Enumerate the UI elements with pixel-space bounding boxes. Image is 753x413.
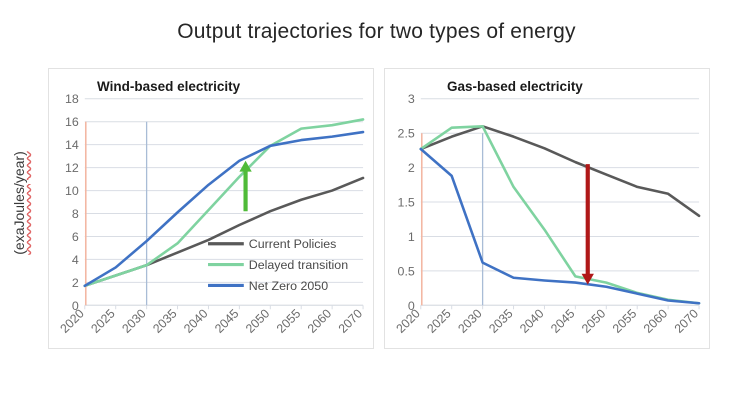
x-tick-label: 2060 xyxy=(641,306,671,335)
x-tick-label: 2055 xyxy=(610,306,640,335)
y-tick-label: 2 xyxy=(408,161,415,175)
annotation-arrow-down xyxy=(582,164,594,284)
x-tick-label: 2040 xyxy=(181,306,211,335)
x-tick-label: 2060 xyxy=(305,306,335,335)
x-tick-label: 2035 xyxy=(150,306,180,335)
y-tick-label: 4 xyxy=(72,253,79,267)
x-tick-label: 2045 xyxy=(212,306,242,335)
chart-plot-right: 00.511.522.53202020252030203520402045205… xyxy=(385,69,709,348)
y-tick-label: 18 xyxy=(65,92,79,106)
x-tick-label: 2025 xyxy=(424,306,454,335)
legend-item-current-policies: Current Policies xyxy=(208,237,336,251)
y-axis-label-container: (exaJoules/year) xyxy=(2,95,30,325)
series-line-net-zero-2050 xyxy=(421,149,699,303)
x-tick-label: 2030 xyxy=(455,306,485,335)
page-title: Output trajectories for two types of ene… xyxy=(0,20,753,44)
y-tick-label: 6 xyxy=(72,230,79,244)
y-tick-label: 12 xyxy=(65,161,79,175)
y-tick-label: 1.5 xyxy=(398,196,415,210)
x-tick-label: 2020 xyxy=(393,306,423,335)
x-tick-label: 2025 xyxy=(88,306,118,335)
y-tick-label: 8 xyxy=(72,207,79,221)
x-tick-label: 2040 xyxy=(517,306,547,335)
legend-label: Net Zero 2050 xyxy=(249,279,328,293)
x-tick-label: 2030 xyxy=(119,306,149,335)
x-tick-label: 2045 xyxy=(548,306,578,335)
y-tick-label: 0.5 xyxy=(398,264,415,278)
legend-label: Delayed transition xyxy=(249,258,348,272)
chart-gas-based-electricity: Gas-based electricity 00.511.522.5320202… xyxy=(384,68,710,349)
x-tick-label: 2050 xyxy=(579,306,609,335)
y-tick-label: 1 xyxy=(408,230,415,244)
y-tick-label: 2.5 xyxy=(398,127,415,141)
x-tick-label: 2050 xyxy=(243,306,273,335)
legend-item-delayed-transition: Delayed transition xyxy=(208,258,348,272)
x-tick-label: 2035 xyxy=(486,306,516,335)
legend-label: Current Policies xyxy=(249,237,337,251)
series-line-delayed-transition xyxy=(421,126,699,303)
legend-item-net-zero-2050: Net Zero 2050 xyxy=(208,279,328,293)
chart-plot-left: 0246810121416182020202520302035204020452… xyxy=(49,69,373,348)
x-tick-label: 2070 xyxy=(672,306,702,335)
chart-wind-based-electricity: Wind-based electricity 02468101214161820… xyxy=(48,68,374,349)
y-tick-label: 14 xyxy=(65,138,79,152)
x-tick-label: 2070 xyxy=(336,306,366,335)
y-tick-label: 10 xyxy=(65,184,79,198)
annotation-arrow-up xyxy=(239,161,251,211)
y-axis-label: (exaJoules/year) xyxy=(11,98,27,308)
x-tick-label: 2020 xyxy=(57,306,87,335)
x-tick-label: 2055 xyxy=(274,306,304,335)
y-tick-label: 3 xyxy=(408,92,415,106)
y-tick-label: 16 xyxy=(65,115,79,129)
y-tick-label: 2 xyxy=(72,276,79,290)
